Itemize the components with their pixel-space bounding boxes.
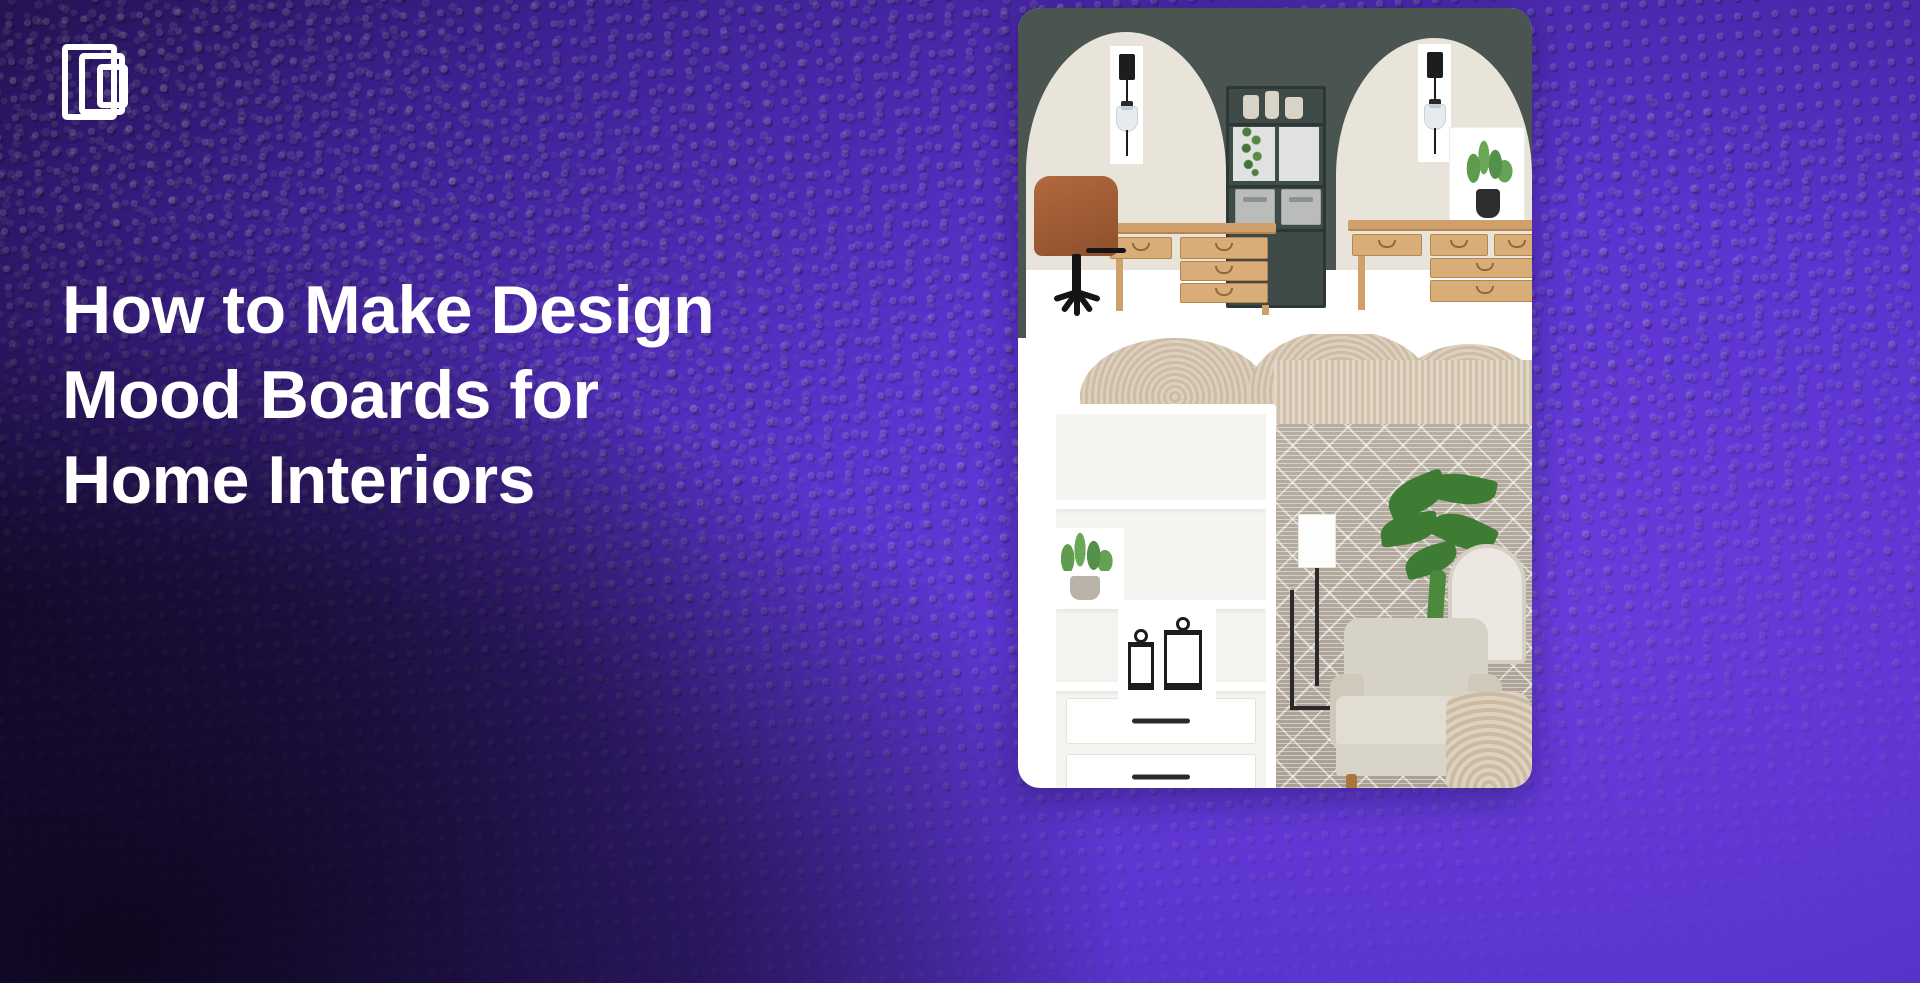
desk-leg (1358, 256, 1365, 310)
storage-bin-right (1281, 189, 1321, 225)
chair-arm (1086, 248, 1126, 253)
glass-vase-1 (1243, 95, 1259, 119)
wall-sconce-right (1418, 44, 1451, 162)
sconce-cord-tail (1126, 130, 1128, 156)
plant-pot (1476, 189, 1501, 218)
fern-graphic (1054, 530, 1116, 600)
bookcase-shelf (1056, 500, 1266, 509)
mood-board-top-section (1018, 8, 1532, 338)
lamp-riser (1290, 590, 1294, 710)
mood-board-image (1018, 8, 1532, 788)
desk-drawer (1180, 237, 1268, 259)
fern-in-pot (1046, 528, 1124, 604)
plant-pot (1070, 576, 1100, 600)
sconce-glass-shade (1116, 106, 1138, 132)
wall-sconce-left (1110, 46, 1143, 164)
sconce-cord-tail (1434, 128, 1436, 154)
desk-drawer (1430, 234, 1488, 256)
glass-vase-3 (1285, 97, 1303, 119)
lantern-small (1128, 642, 1154, 686)
snake-plant-graphic (1462, 134, 1514, 218)
lantern-roof (1128, 635, 1154, 647)
glass-vase-2 (1265, 91, 1279, 119)
desk-drawer (1180, 261, 1268, 281)
wood-desk-left (1106, 223, 1276, 313)
shelf-pane-right (1279, 127, 1319, 181)
promo-banner: How to Make Design Mood Boards for Home … (0, 0, 1920, 983)
chair-gas-lift (1072, 254, 1081, 294)
desk-drawer (1430, 258, 1532, 278)
desk-top (1348, 220, 1532, 231)
plant-foliage (1054, 530, 1116, 571)
desk-drawer (1494, 234, 1532, 256)
desk-drawer (1352, 234, 1422, 256)
bookcase-drawer (1066, 698, 1256, 744)
lamp-pole (1315, 568, 1319, 686)
chair-base (1040, 290, 1114, 316)
wood-desk-right (1348, 220, 1532, 312)
lantern-base (1164, 683, 1202, 690)
headline-line-3: Home Interiors (62, 438, 922, 523)
lantern-base (1128, 683, 1154, 690)
desk-top (1106, 223, 1276, 234)
bookcase-drawer (1066, 754, 1256, 788)
snake-plant-art (1450, 128, 1524, 220)
lantern-roof (1164, 623, 1202, 635)
sconce-glass-shade (1424, 104, 1446, 130)
headline-line-2: Mood Boards for (62, 353, 922, 438)
trailing-ivy-plant (1239, 125, 1265, 183)
black-lanterns (1118, 606, 1216, 700)
desk-drawer (1180, 283, 1268, 303)
rug-fringe (1274, 360, 1532, 424)
chair-backrest (1034, 176, 1118, 256)
plant-foliage (1462, 134, 1514, 183)
desk-drawer (1430, 280, 1532, 302)
page-title: How to Make Design Mood Boards for Home … (62, 268, 922, 523)
logo-frame-front (97, 64, 128, 108)
armchair-foot (1346, 774, 1357, 788)
lantern-large (1164, 630, 1202, 686)
leather-office-chair (1034, 176, 1118, 336)
shelf-rail-2 (1229, 185, 1323, 188)
storage-bin-left (1235, 189, 1275, 225)
headline-line-1: How to Make Design (62, 268, 922, 353)
lamp-shade (1298, 514, 1336, 568)
desk-leg (1262, 305, 1269, 315)
stacked-frames-logo[interactable] (62, 44, 146, 124)
woven-basket (1446, 692, 1532, 788)
white-bookcase (1046, 404, 1276, 788)
